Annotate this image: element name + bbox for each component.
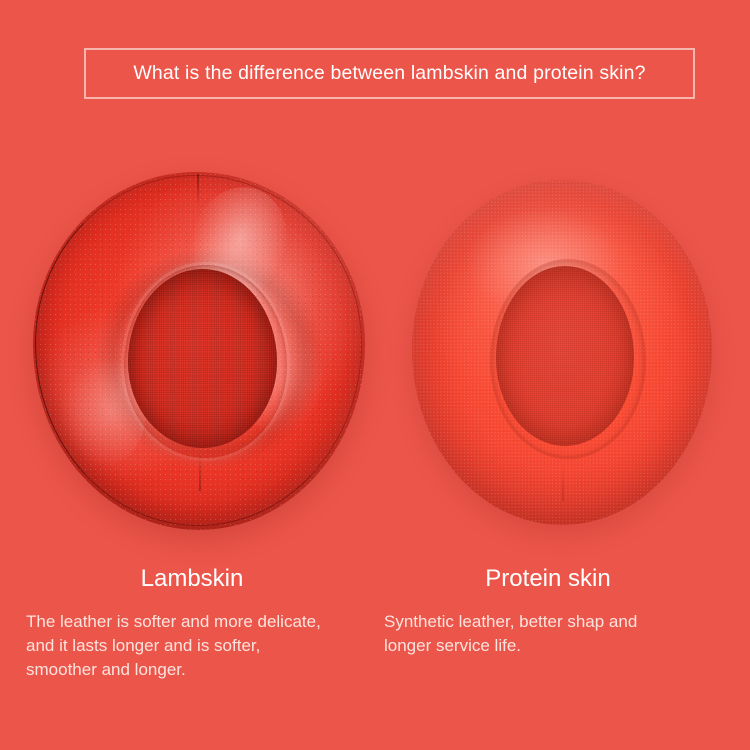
mesh-fabric-texture	[128, 269, 277, 448]
protein-skin-earpad-image	[412, 180, 712, 525]
mesh-fabric-texture	[496, 266, 634, 445]
protein-skin-heading: Protein skin	[378, 565, 736, 593]
page-title: What is the difference between lambskin …	[133, 64, 645, 84]
product-comparison-page: What is the difference between lambskin …	[0, 0, 750, 750]
seam-pucker-top	[197, 174, 199, 206]
protein-skin-caption-block: Protein skin Synthetic leather, better s…	[378, 565, 736, 658]
lambskin-description: The leather is softer and more delicate,…	[18, 610, 376, 682]
lambskin-caption-block: Lambskin The leather is softer and more …	[18, 565, 376, 682]
seam-pucker-bottom	[199, 448, 201, 491]
earpad-inner-opening	[128, 269, 277, 448]
lambskin-heading: Lambskin	[18, 565, 376, 593]
product-image-stage	[0, 150, 750, 550]
lambskin-earpad-image	[33, 172, 365, 530]
seam-pucker-bottom	[562, 463, 564, 501]
earpad-inner-opening	[496, 266, 634, 445]
protein-skin-description: Synthetic leather, better shap and longe…	[378, 610, 736, 658]
header-banner: What is the difference between lambskin …	[84, 48, 695, 99]
